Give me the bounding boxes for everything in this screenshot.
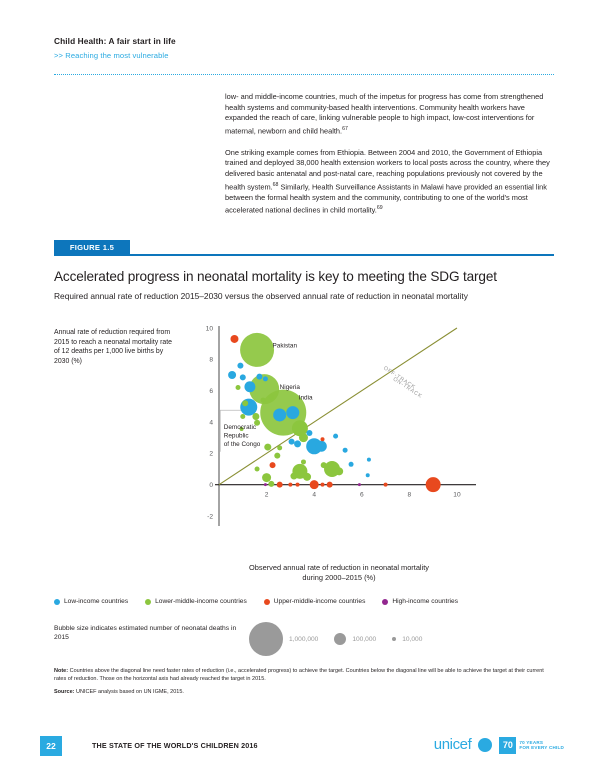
legend-item-1: Lower-middle-income countries xyxy=(145,598,247,605)
data-point[interactable] xyxy=(301,459,306,464)
data-point[interactable] xyxy=(242,400,248,406)
anniversary-line2: FOR EVERY CHILD xyxy=(519,745,564,750)
data-point[interactable] xyxy=(263,376,268,381)
bubble-size-marker-0 xyxy=(249,622,283,656)
legend-label: High-income countries xyxy=(392,598,458,605)
data-point[interactable] xyxy=(316,441,327,452)
data-point[interactable] xyxy=(269,394,274,399)
legend-item-3: High-income countries xyxy=(382,598,458,605)
note-text: Countries above the diagonal line need f… xyxy=(54,668,544,682)
x-axis-caption-line2: during 2000–2015 (%) xyxy=(174,573,504,583)
point-label-drc: Republic xyxy=(224,432,250,439)
x-tick-label: 4 xyxy=(312,492,316,499)
bubble-size-label-1: 100,000 xyxy=(352,636,376,643)
x-axis-caption: Observed annual rate of reduction in neo… xyxy=(174,563,504,583)
legend-dot-icon xyxy=(382,599,388,605)
legend-item-0: Low-income countries xyxy=(54,598,128,605)
figure-subtitle: Required annual rate of reduction 2015–2… xyxy=(54,291,554,302)
bubble-size-label-0: 1,000,000 xyxy=(289,636,318,643)
data-point[interactable] xyxy=(367,458,371,462)
data-point[interactable] xyxy=(294,440,301,447)
data-point[interactable] xyxy=(244,381,255,392)
source-line: Source: UNICEF analysis based on UN IGME… xyxy=(54,689,554,697)
source-text: UNICEF analysis based on UN IGME, 2015. xyxy=(74,689,183,695)
data-point[interactable] xyxy=(366,473,370,477)
anniversary-logo: 70 70 YEARS FOR EVERY CHILD xyxy=(499,737,564,754)
bubble-size-key-items: 1,000,000100,00010,000 xyxy=(249,622,432,656)
running-head: Child Health: A fair start in life >> Re… xyxy=(54,36,554,60)
legend-label: Lower-middle-income countries xyxy=(155,598,247,605)
data-point[interactable] xyxy=(236,385,241,390)
bubble-size-key: Bubble size indicates estimated number o… xyxy=(54,622,554,658)
page-number: 22 xyxy=(40,736,62,756)
chart-container: Annual rate of reduction required from 2… xyxy=(54,320,554,580)
body-paragraph-1: low- and middle-income countries, much o… xyxy=(225,92,555,137)
unicef-wordmark: unicef xyxy=(434,736,472,754)
data-point[interactable] xyxy=(273,408,286,421)
data-point[interactable] xyxy=(335,467,343,475)
data-point[interactable] xyxy=(256,374,262,380)
data-point[interactable] xyxy=(333,434,338,439)
data-point[interactable] xyxy=(255,467,260,472)
point-label: Nigeria xyxy=(280,384,301,391)
figure-rule xyxy=(54,254,554,256)
body-paragraph-1-text: low- and middle-income countries, much o… xyxy=(225,92,543,135)
data-point[interactable] xyxy=(270,462,276,468)
body-paragraph-2: One striking example comes from Ethiopia… xyxy=(225,148,555,217)
data-point[interactable] xyxy=(296,483,300,487)
bubble-size-label-2: 10,000 xyxy=(402,636,422,643)
data-point[interactable] xyxy=(288,483,292,487)
data-point[interactable] xyxy=(252,413,259,420)
point-label: Pakistan xyxy=(273,343,298,350)
data-point[interactable] xyxy=(228,371,236,379)
y-tick-label: -2 xyxy=(207,513,213,520)
data-point[interactable] xyxy=(240,399,257,416)
data-point[interactable] xyxy=(321,462,327,468)
data-point[interactable] xyxy=(349,462,354,467)
data-point[interactable] xyxy=(274,453,280,459)
data-point[interactable] xyxy=(240,333,274,367)
x-tick-label: 10 xyxy=(453,492,461,499)
data-point[interactable] xyxy=(321,483,325,487)
point-label-drc: Democratic xyxy=(224,424,257,431)
data-point[interactable] xyxy=(286,406,299,419)
scatter-plot-svg: -20246810246810OFF-TRACKON-TRACKPakistan… xyxy=(191,320,481,565)
x-tick-label: 6 xyxy=(360,492,364,499)
data-point[interactable] xyxy=(277,482,283,488)
legend-dot-icon xyxy=(264,599,270,605)
running-head-title: Child Health: A fair start in life xyxy=(54,36,554,46)
point-label-drc: of the Congo xyxy=(224,441,261,448)
unicef-branding: unicef 70 70 YEARS FOR EVERY CHILD xyxy=(434,736,564,754)
footer-title: THE STATE OF THE WORLD'S CHILDREN 2016 xyxy=(92,741,258,750)
data-point[interactable] xyxy=(321,437,325,441)
y-axis-caption: Annual rate of reduction required from 2… xyxy=(54,328,174,366)
data-point[interactable] xyxy=(230,335,238,343)
y-tick-label: 8 xyxy=(209,357,213,364)
data-point[interactable] xyxy=(426,477,441,492)
y-tick-label: 0 xyxy=(209,482,213,489)
page-footer: 22 THE STATE OF THE WORLD'S CHILDREN 201… xyxy=(0,736,600,762)
legend-label: Low-income countries xyxy=(64,598,128,605)
data-point[interactable] xyxy=(299,433,308,442)
figure-title: Accelerated progress in neonatal mortali… xyxy=(54,269,554,285)
data-point[interactable] xyxy=(310,480,319,489)
x-axis-caption-line1: Observed annual rate of reduction in neo… xyxy=(174,563,504,573)
data-point[interactable] xyxy=(289,439,295,445)
legend-dot-icon xyxy=(145,599,151,605)
figure-tag: FIGURE 1.5 xyxy=(54,240,130,255)
y-tick-label: 10 xyxy=(206,325,214,332)
y-tick-label: 2 xyxy=(209,451,213,458)
running-head-subtitle: >> Reaching the most vulnerable xyxy=(54,51,554,60)
bubble-size-key-caption: Bubble size indicates estimated number o… xyxy=(54,624,244,642)
data-point[interactable] xyxy=(303,473,311,481)
body-column: low- and middle-income countries, much o… xyxy=(225,92,555,227)
data-point[interactable] xyxy=(264,444,271,451)
data-point[interactable] xyxy=(290,473,297,480)
chart-legend: Low-income countriesLower-middle-income … xyxy=(54,598,554,605)
data-point[interactable] xyxy=(237,363,243,369)
data-point[interactable] xyxy=(327,482,333,488)
data-point[interactable] xyxy=(277,445,282,450)
footnote-ref-69: 69 xyxy=(377,205,383,211)
figure-tag-bar: FIGURE 1.5 xyxy=(54,240,554,255)
y-tick-label: 4 xyxy=(209,419,213,426)
data-point[interactable] xyxy=(261,398,266,403)
data-point[interactable] xyxy=(384,483,388,487)
legend-label: Upper-middle-income countries xyxy=(274,598,366,605)
data-point[interactable] xyxy=(343,448,348,453)
data-point[interactable] xyxy=(240,414,245,419)
x-tick-label: 8 xyxy=(408,492,412,499)
footnote-ref-67: 67 xyxy=(342,126,348,132)
data-point[interactable] xyxy=(262,473,271,482)
data-point[interactable] xyxy=(240,374,246,380)
data-point[interactable] xyxy=(358,483,361,486)
note-line: Note: Countries above the diagonal line … xyxy=(54,668,554,683)
dotted-divider xyxy=(54,74,554,76)
data-point[interactable] xyxy=(306,430,312,436)
page: Child Health: A fair start in life >> Re… xyxy=(0,0,600,776)
anniversary-text: 70 YEARS FOR EVERY CHILD xyxy=(519,740,564,751)
data-point[interactable] xyxy=(268,481,274,487)
y-tick-label: 6 xyxy=(209,388,213,395)
note-label: Note: xyxy=(54,668,68,674)
bubble-size-marker-1 xyxy=(334,633,346,645)
x-tick-label: 2 xyxy=(265,492,269,499)
figure-notes: Note: Countries above the diagonal line … xyxy=(54,668,554,703)
scatter-plot: -20246810246810OFF-TRACKON-TRACKPakistan… xyxy=(191,320,471,560)
data-point[interactable] xyxy=(264,483,267,486)
anniversary-mark-icon: 70 xyxy=(499,737,516,754)
bubble-size-marker-2 xyxy=(392,637,396,641)
figure-header: FIGURE 1.5 Accelerated progress in neona… xyxy=(54,240,554,302)
legend-item-2: Upper-middle-income countries xyxy=(264,598,366,605)
source-label: Source: xyxy=(54,689,74,695)
point-label: India xyxy=(299,394,313,401)
unicef-globe-icon xyxy=(478,738,492,752)
legend-dot-icon xyxy=(54,599,60,605)
anniversary-line1: 70 YEARS xyxy=(519,740,543,745)
